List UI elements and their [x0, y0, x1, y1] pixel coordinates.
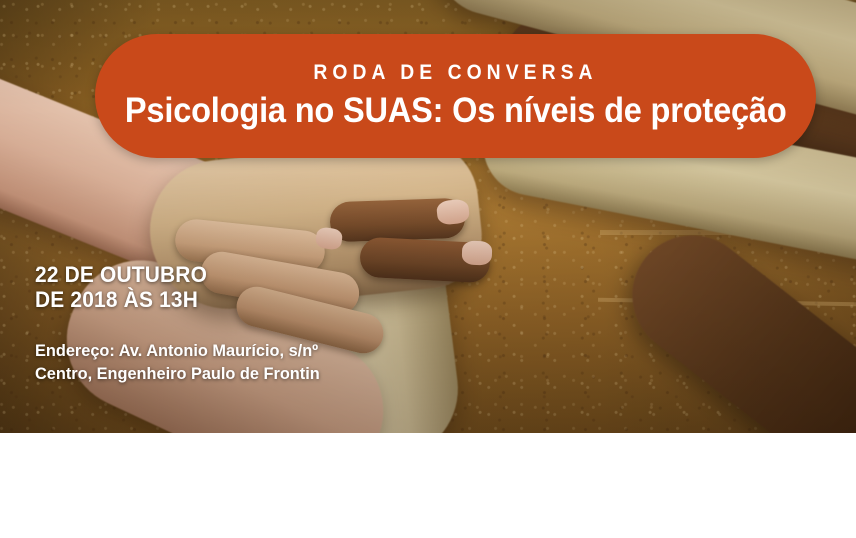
- event-address-line-1: Endereço: Av. Antonio Maurício, s/nº: [35, 339, 320, 362]
- footer-bar: CRP·RJ CONSELHO REGIONAL DE PSICOLOGIA D…: [0, 433, 856, 538]
- event-address: Endereço: Av. Antonio Maurício, s/nº Cen…: [35, 339, 320, 385]
- event-title: Psicologia no SUAS: Os níveis de proteçã…: [125, 91, 787, 131]
- event-address-line-2: Centro, Engenheiro Paulo de Frontin: [35, 362, 320, 385]
- title-banner: RODA DE CONVERSA Psicologia no SUAS: Os …: [95, 34, 816, 158]
- event-poster: RODA DE CONVERSA Psicologia no SUAS: Os …: [0, 0, 856, 538]
- event-date-line-1: 22 DE OUTUBRO: [35, 262, 317, 287]
- event-kicker: RODA DE CONVERSA: [313, 61, 597, 85]
- event-date-line-2: DE 2018 ÀS 13H: [35, 287, 317, 312]
- fingernail: [462, 240, 493, 265]
- event-details: 22 DE OUTUBRO DE 2018 ÀS 13H Endereço: A…: [35, 262, 332, 385]
